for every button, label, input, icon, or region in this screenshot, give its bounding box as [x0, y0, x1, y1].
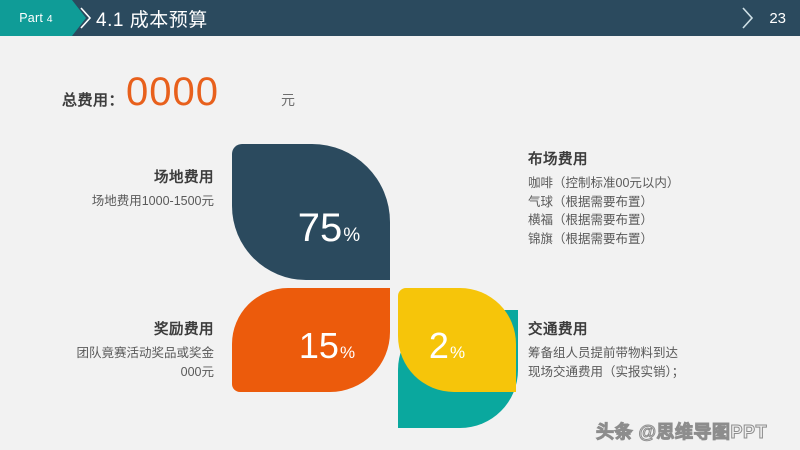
total-cost-unit: 元 [281, 90, 295, 110]
text-block-transit-line-2: 现场交通费用（实报实销）； [528, 363, 758, 382]
text-block-reward-line-2: 000元 [24, 363, 214, 382]
text-block-reward-title: 奖励费用 [24, 318, 214, 339]
slide-header-bar: Part 4 4.1 成本预算 23 [0, 0, 800, 36]
part-tab: Part 4 [0, 0, 72, 36]
text-block-venue: 场地费用 场地费用1000-1500元 [34, 166, 214, 211]
text-block-setup-line-4: 锦旗（根据需要布置） [528, 230, 758, 249]
text-block-transit-title: 交通费用 [528, 318, 758, 339]
text-block-transit-line-1: 筹备组人员提前带物料到达 [528, 344, 758, 363]
text-block-venue-line-1: 场地费用1000-1500元 [34, 192, 214, 211]
watermark: 头条 @思维导图PPT [596, 418, 767, 444]
petal-shape-reward: 15% [232, 288, 390, 392]
text-block-setup-line-3: 横福（根据需要布置） [528, 211, 758, 230]
total-cost-value: 0000 [126, 72, 219, 112]
part-tab-label: Part 4 [19, 11, 52, 25]
text-block-reward-line-1: 团队竟赛活动奖品或奖金 [24, 344, 214, 363]
petal-shape-venue: 75% [232, 144, 390, 280]
total-cost-row: 总费用： 0000 元 [62, 72, 295, 120]
slide-page-number: 23 [769, 0, 786, 36]
text-block-setup-line-2: 气球（根据需要布置） [528, 193, 758, 212]
text-block-transit: 交通费用 筹备组人员提前带物料到达 现场交通费用（实报实销）； [528, 318, 758, 381]
budget-petal-chart: 75% 8% 15% 2% [232, 144, 522, 392]
page-title: 4.1 成本预算 [96, 0, 208, 36]
petal-value-transit: 2% [429, 328, 465, 364]
chevron-right-icon-left [80, 7, 92, 29]
petal-value-venue: 75% [298, 208, 360, 248]
total-cost-label: 总费用： [62, 89, 124, 110]
chevron-right-icon-right [742, 7, 754, 29]
text-block-setup-line-1: 咖啡（控制标准00元以内） [528, 174, 758, 193]
text-block-reward: 奖励费用 团队竟赛活动奖品或奖金 000元 [24, 318, 214, 381]
text-block-setup: 布场费用 咖啡（控制标准00元以内） 气球（根据需要布置） 横福（根据需要布置）… [528, 148, 758, 248]
text-block-venue-title: 场地费用 [34, 166, 214, 187]
petal-value-reward: 15% [299, 328, 355, 364]
text-block-setup-title: 布场费用 [528, 148, 758, 169]
petal-shape-transit: 2% [398, 288, 516, 392]
